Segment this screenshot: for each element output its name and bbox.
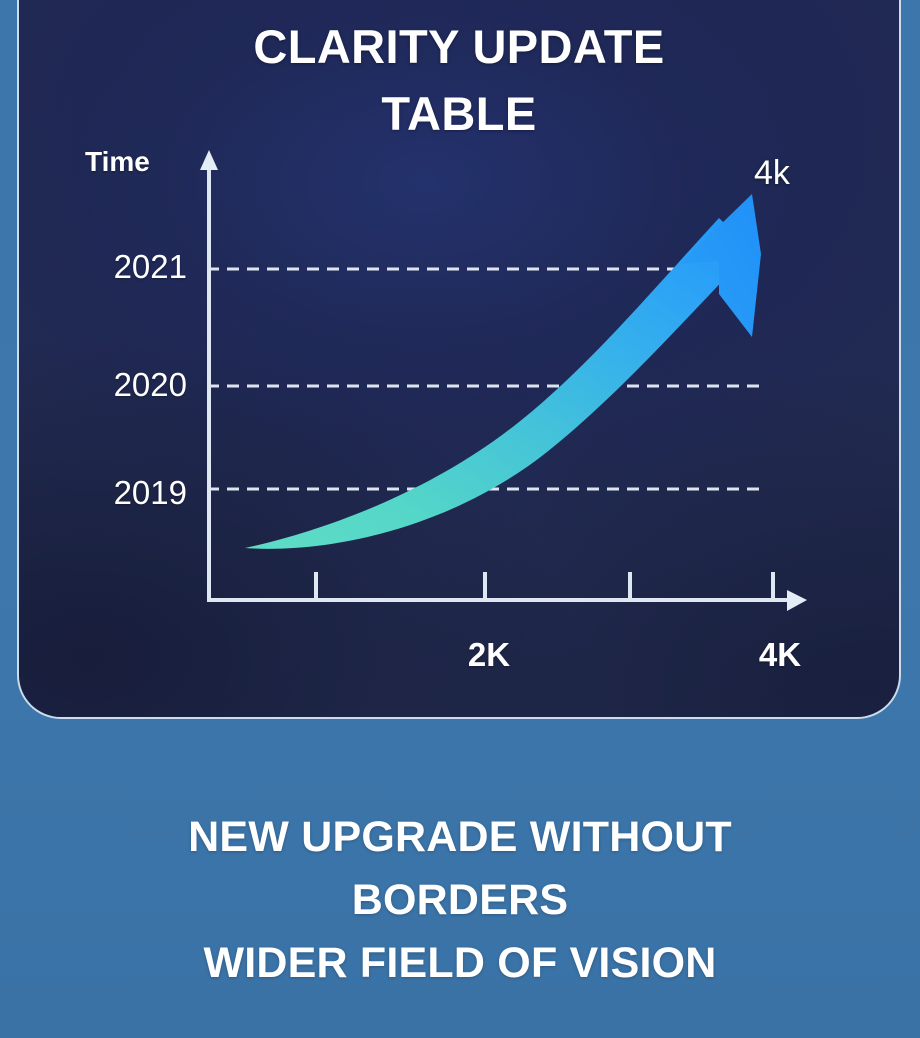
y-axis-title: Time [85,146,150,178]
y-tick-label-2019: 2019 [57,474,187,512]
x-tick-label-4k: 4K [735,636,825,674]
footer-copy: NEW UPGRADE WITHOUT BORDERS WIDER FIELD … [0,806,920,996]
footer-line-3: WIDER FIELD OF VISION [0,932,920,995]
x-axis-ticks [316,572,773,600]
growth-chart: Time 2021 2020 2019 2K 4K 4k [19,0,901,719]
screenshot-root: CLARITY UPDATE TABLE [0,0,920,1038]
footer-line-1: NEW UPGRADE WITHOUT [0,806,920,869]
y-tick-label-2021: 2021 [57,248,187,286]
y-axis-arrowhead [200,150,218,170]
y-tick-label-2020: 2020 [57,366,187,404]
x-tick-label-2k: 2K [444,636,534,674]
footer-line-2: BORDERS [0,869,920,932]
chart-svg [19,0,901,719]
peak-value-label: 4k [754,154,790,193]
clarity-chart-card: CLARITY UPDATE TABLE [17,0,901,719]
x-axis-arrowhead [787,590,807,611]
